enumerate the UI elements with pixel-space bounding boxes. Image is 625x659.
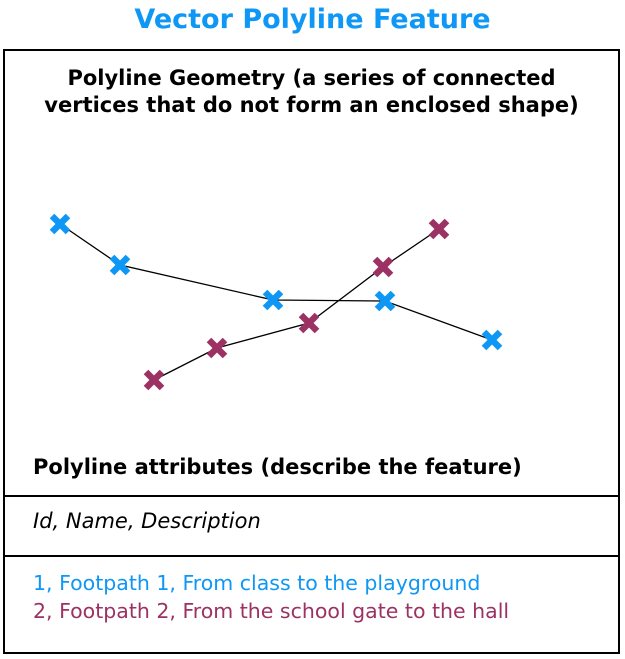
attributes-rows: 1, Footpath 1, From class to the playgro… <box>5 569 618 625</box>
vector-polyline-figure: Vector Polyline Feature Polyline Geometr… <box>0 0 625 659</box>
vertex-marker-x <box>209 340 225 356</box>
page-title: Vector Polyline Feature <box>0 4 625 35</box>
vertex-marker-x <box>146 372 162 388</box>
vertex-marker-x <box>375 259 391 275</box>
vertex-marker-x <box>52 216 68 232</box>
attributes-field-list: Id, Name, Description <box>5 509 618 533</box>
polyline-footpath-1-line <box>60 224 492 340</box>
table-row: 2, Footpath 2, From the school gate to t… <box>33 597 618 625</box>
polyline-footpath-2 <box>146 221 447 388</box>
polyline-footpath-2-vertices <box>146 221 447 388</box>
divider-above-rows <box>5 555 618 557</box>
divider-above-fields <box>5 495 618 497</box>
vertex-marker-x <box>431 221 447 237</box>
attributes-heading: Polyline attributes (describe the featur… <box>5 455 618 479</box>
figure-frame: Polyline Geometry (a series of connected… <box>3 49 620 654</box>
polyline-geometry-canvas <box>5 51 618 495</box>
vertex-marker-x <box>112 257 128 273</box>
table-row: 1, Footpath 1, From class to the playgro… <box>33 569 618 597</box>
vertex-marker-x <box>301 315 317 331</box>
vertex-marker-x <box>484 332 500 348</box>
